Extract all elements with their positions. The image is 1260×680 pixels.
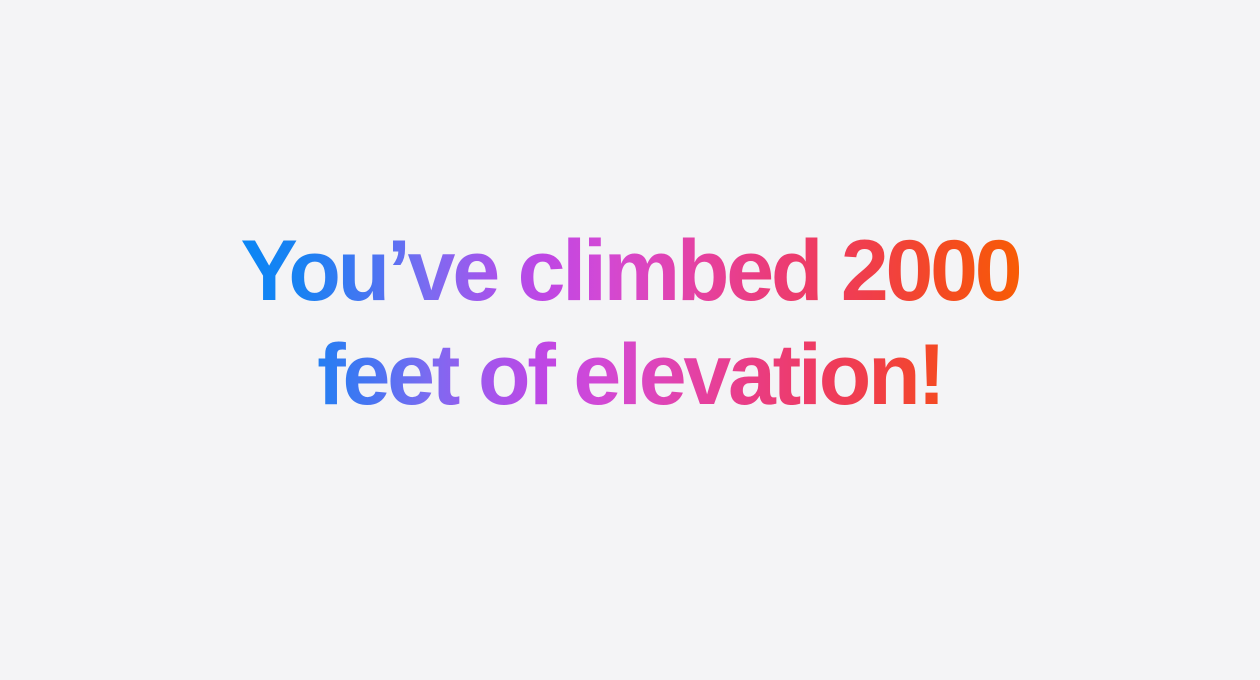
headline-line-1: You’ve climbed 2000 [241,219,1020,323]
achievement-screen: You’ve climbed 2000 feet of elevation! [0,0,1260,680]
achievement-headline: You’ve climbed 2000 feet of elevation! [241,219,1020,433]
headline-line-2: feet of elevation! [241,323,1020,427]
